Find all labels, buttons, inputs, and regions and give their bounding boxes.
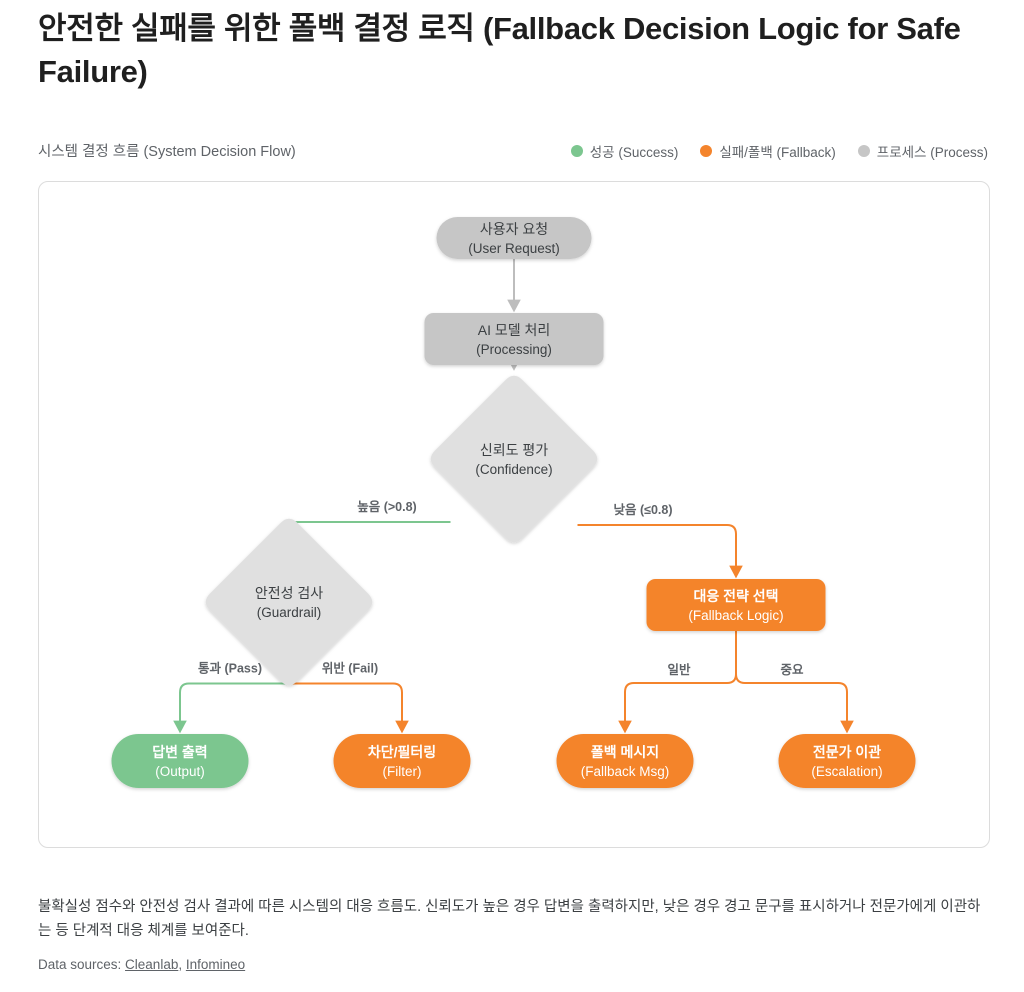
node-escalation[interactable]: 전문가 이관(Escalation) — [779, 734, 916, 788]
node-label-en: (Escalation) — [811, 764, 882, 779]
decision-flow-diagram: 사용자 요청(User Request)AI 모델 처리(Processing)… — [39, 182, 989, 847]
node-label-ko: 전문가 이관 — [813, 744, 881, 760]
node-user_request[interactable]: 사용자 요청(User Request) — [437, 217, 592, 259]
legend-label-process: 프로세스 (Process) — [877, 141, 988, 161]
node-filter[interactable]: 차단/필터링(Filter) — [334, 734, 471, 788]
edge-label-e-fb-esc: 중요 — [780, 663, 804, 677]
chart-meta-row: 시스템 결정 흐름 (System Decision Flow) 성공 (Suc… — [38, 140, 988, 161]
page-root: 안전한 실패를 위한 폴백 결정 로직 (Fallback Decision L… — [0, 0, 1024, 992]
legend-label-fallback: 실패/폴백 (Fallback) — [719, 141, 835, 161]
node-confidence[interactable]: 신뢰도 평가(Confidence) — [431, 376, 598, 543]
node-guardrail[interactable]: 안전성 검사(Guardrail) — [206, 519, 373, 686]
node-label-en: (Confidence) — [475, 462, 552, 477]
node-label-en: (Output) — [155, 764, 205, 779]
node-shape-rounded — [647, 579, 826, 631]
edge-e-grd-out — [180, 684, 289, 732]
node-fallback_msg[interactable]: 폴백 메시지(Fallback Msg) — [557, 734, 694, 788]
node-processing[interactable]: AI 모델 처리(Processing) — [425, 313, 604, 365]
flowchart-card: 사용자 요청(User Request)AI 모델 처리(Processing)… — [38, 181, 990, 848]
chart-subtitle: 시스템 결정 흐름 (System Decision Flow) — [38, 140, 296, 161]
node-shape-stadium — [112, 734, 249, 788]
data-sources: Data sources: Cleanlab, Infomineo — [38, 957, 245, 972]
edge-label-e-conf-fb: 낮음 (≤0.8) — [613, 502, 672, 517]
figure-caption: 불확실성 점수와 안전성 검사 결과에 따른 시스템의 대응 흐름도. 신뢰도가… — [38, 895, 990, 945]
edge-e-fb-esc — [736, 631, 847, 731]
node-shape-rounded — [425, 313, 604, 365]
node-label-ko: 대응 전략 선택 — [693, 588, 778, 604]
node-label-ko: 답변 출력 — [152, 744, 207, 760]
edge-label-e-conf-grd: 높음 (>0.8) — [357, 499, 416, 514]
source-link-cleanlab[interactable]: Cleanlab — [125, 957, 178, 972]
legend-item-process: 프로세스 (Process) — [858, 141, 988, 161]
legend-dot-fallback — [700, 145, 712, 157]
edge-label-e-grd-out: 통과 (Pass) — [198, 661, 262, 676]
node-label-ko: 안전성 검사 — [255, 585, 323, 601]
node-output[interactable]: 답변 출력(Output) — [112, 734, 249, 788]
legend-item-success: 성공 (Success) — [571, 141, 679, 161]
node-shape-stadium — [557, 734, 694, 788]
node-shape-stadium — [779, 734, 916, 788]
node-shape-diamond — [431, 376, 598, 543]
legend-dot-process — [858, 145, 870, 157]
node-label-en: (Fallback Logic) — [688, 608, 783, 623]
node-label-ko: 폴백 메시지 — [591, 744, 659, 760]
node-label-en: (Processing) — [476, 342, 552, 357]
node-label-en: (Filter) — [383, 764, 422, 779]
edge-e-conf-fb — [578, 525, 737, 576]
data-sources-prefix: Data sources: — [38, 957, 125, 972]
legend-dot-success — [571, 145, 583, 157]
node-shape-diamond — [206, 519, 373, 686]
node-label-ko: 사용자 요청 — [480, 221, 548, 237]
legend-item-fallback: 실패/폴백 (Fallback) — [700, 141, 835, 161]
node-label-en: (Guardrail) — [257, 605, 322, 620]
sources-separator: , — [178, 957, 186, 972]
node-label-en: (Fallback Msg) — [581, 764, 670, 779]
node-label-ko: AI 모델 처리 — [478, 322, 551, 338]
node-label-ko: 신뢰도 평가 — [480, 442, 548, 458]
node-fallback_logic[interactable]: 대응 전략 선택(Fallback Logic) — [647, 579, 826, 631]
node-shape-stadium — [334, 734, 471, 788]
node-label-en: (User Request) — [468, 241, 560, 256]
edge-label-e-grd-flt: 위반 (Fail) — [322, 661, 378, 676]
edge-e-fb-msg — [625, 631, 736, 731]
node-label-ko: 차단/필터링 — [368, 744, 436, 760]
source-link-infomineo[interactable]: Infomineo — [186, 957, 245, 972]
edge-e-grd-flt — [289, 684, 402, 732]
legend-label-success: 성공 (Success) — [590, 141, 679, 161]
edge-label-e-fb-msg: 일반 — [667, 662, 691, 677]
legend: 성공 (Success) 실패/폴백 (Fallback) 프로세스 (Proc… — [571, 141, 988, 161]
page-title: 안전한 실패를 위한 폴백 결정 로직 (Fallback Decision L… — [38, 8, 990, 94]
